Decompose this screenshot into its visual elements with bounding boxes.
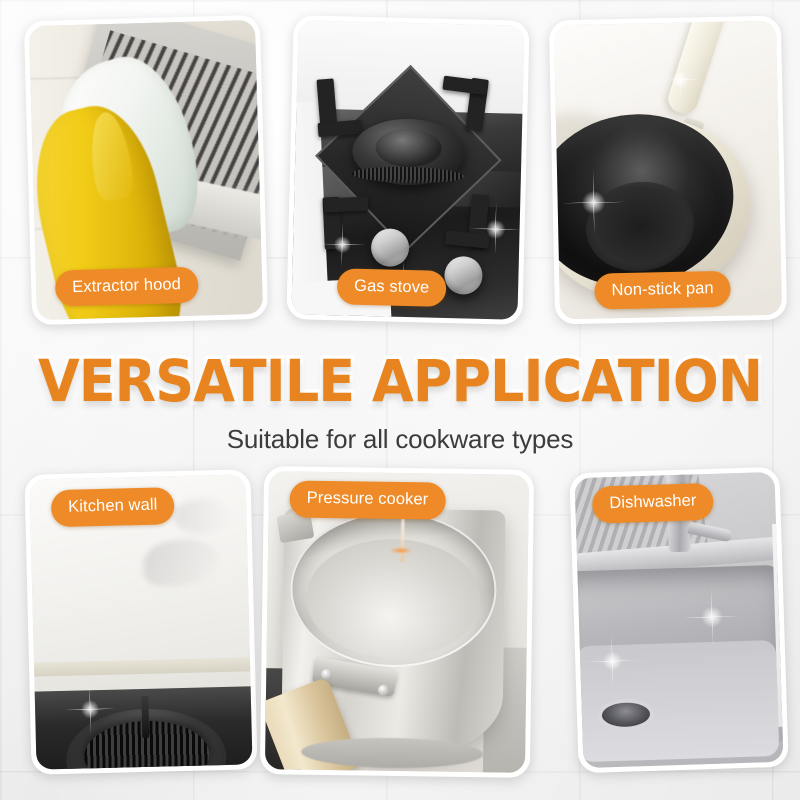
page-headline: VERSATILE APPLICATION (28, 352, 772, 410)
card-label-extractor-hood: Extractor hood (55, 266, 199, 306)
card-label-dishwasher: Dishwasher (592, 483, 714, 523)
sink-basin-floor (576, 640, 780, 762)
handle-rivet (378, 684, 389, 695)
product-card-extractor-hood: Extractor hood (24, 15, 268, 325)
card-label-non-stick-pan: Non-stick pan (594, 270, 731, 309)
product-card-dishwasher: Dishwasher (569, 467, 788, 773)
handle-rivet (321, 669, 332, 680)
card-label-kitchen-wall: Kitchen wall (51, 487, 175, 527)
product-card-gas-stove: Gas stove (286, 15, 529, 325)
product-card-non-stick-pan: Non-stick pan (549, 16, 787, 325)
card-label-pressure-cooker: Pressure cooker (289, 480, 445, 519)
trivet-arm (324, 197, 369, 213)
product-card-kitchen-wall: Kitchen wall (24, 469, 257, 774)
product-card-pressure-cooker: Pressure cooker (260, 466, 534, 778)
cooker-rim-highlight (290, 510, 498, 668)
card-label-gas-stove: Gas stove (337, 268, 447, 307)
warm-glint-highlight (390, 547, 412, 552)
page-subheadline: Suitable for all cookware types (0, 424, 800, 455)
